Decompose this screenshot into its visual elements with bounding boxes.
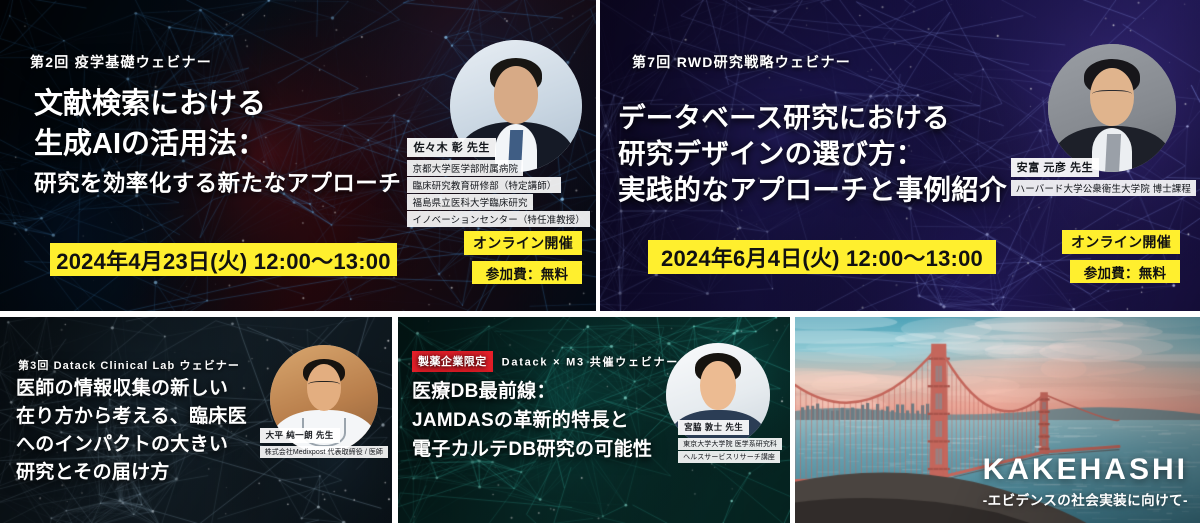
banner-eyebrow: 第2回 疫学基礎ウェビナー — [30, 52, 212, 72]
banner-epidemiology-basics-webinar[interactable]: 第2回 疫学基礎ウェビナー 文献検索における 生成AIの活用法： 研究を効率化す… — [0, 0, 596, 311]
banner-title: 医療DB最前線： JAMDASの革新的特長と 電子カルテDB研究の可能性 — [412, 377, 652, 464]
banner-kakehashi[interactable]: KAKEHASHI -エビデンスの社会実装に向けて- — [795, 317, 1200, 523]
date-chip: 2024年4月23日(火) 12:00〜13:00 — [50, 243, 397, 276]
speaker-affiliation-4: イノベーションセンター（特任准教授） — [407, 211, 590, 227]
speaker-credentials: 安富 元彦 先生 ハーバード大学公衆衛生大学院 博士課程 — [1011, 158, 1196, 197]
speaker-credentials: 大平 純一朗 先生 株式会社Medixpost 代表取締役 / 医師 — [260, 428, 388, 459]
date-chip: 2024年6月4日(火) 12:00〜13:00 — [648, 240, 996, 274]
banner-title: 文献検索における 生成AIの活用法： 研究を効率化する新たなアプローチ — [34, 84, 401, 202]
title-line-3: 実践的なアプローチと事例紹介 — [618, 172, 1007, 208]
speaker-name: 安富 元彦 先生 — [1011, 158, 1100, 177]
eyebrow-label: Datack × M3 共催ウェビナー — [502, 357, 679, 369]
banner-eyebrow: 製薬企業限定Datack × M3 共催ウェビナー — [412, 351, 679, 372]
speaker-name: 大平 純一朗 先生 — [260, 428, 340, 443]
speaker-name: 宮脇 敦士 先生 — [678, 420, 749, 435]
speaker-photo — [1048, 44, 1176, 172]
title-line-1: 医療DB最前線： — [412, 377, 652, 406]
banner-datack-clinical-lab-webinar[interactable]: 第3回 Datack Clinical Lab ウェビナー 医師の情報収集の新し… — [0, 317, 392, 523]
title-subtitle: 研究を効率化する新たなアプローチ — [34, 166, 401, 202]
banner-eyebrow: 第7回 RWD研究戦略ウェビナー — [632, 52, 851, 72]
title-line-4: 研究とその届け方 — [16, 459, 247, 487]
title-line-3: へのインパクトの大きい — [16, 431, 247, 459]
title-line-2: JAMDASの革新的特長と — [412, 406, 652, 435]
title-line-1: 医師の情報収集の新しい — [16, 375, 247, 403]
title-line-2: 在り方から考える、臨床医 — [16, 403, 247, 431]
banner-eyebrow: 第3回 Datack Clinical Lab ウェビナー — [18, 357, 240, 373]
speaker-affiliation-3: 福島県立医科大学臨床研究 — [407, 194, 532, 210]
format-chip: オンライン開催 — [464, 231, 582, 255]
title-line-3: 電子カルテDB研究の可能性 — [412, 435, 652, 464]
banner-rwd-research-strategy-webinar[interactable]: 第7回 RWD研究戦略ウェビナー データベース研究における 研究デザインの選び方… — [600, 0, 1200, 311]
title-line-2: 研究デザインの選び方： — [618, 136, 1007, 172]
speaker-affiliation-1: 京都大学医学部附属病院 — [407, 160, 523, 176]
title-line-1: 文献検索における — [34, 84, 401, 124]
fee-chip: 参加費：無料 — [1070, 260, 1180, 283]
kakehashi-subtitle: -エビデンスの社会実装に向けて- — [983, 489, 1188, 509]
banner-datack-m3-joint-webinar[interactable]: 製薬企業限定Datack × M3 共催ウェビナー 医療DB最前線： JAMDA… — [398, 317, 790, 523]
banner-title: 医師の情報収集の新しい 在り方から考える、臨床医 へのインパクトの大きい 研究と… — [16, 375, 247, 487]
fee-chip: 参加費：無料 — [472, 261, 582, 284]
speaker-name: 佐々木 彰 先生 — [407, 138, 496, 157]
speaker-credentials: 佐々木 彰 先生 京都大学医学部附属病院 臨床研究教育研修部（特定講師） 福島県… — [407, 138, 590, 228]
speaker-affiliation-1: 株式会社Medixpost 代表取締役 / 医師 — [260, 446, 388, 458]
speaker-credentials: 宮脇 敦士 先生 東京大学大学院 医学系研究科 ヘルスサービスリサーチ講座 — [678, 420, 782, 464]
speaker-affiliation-1: 東京大学大学院 医学系研究科 — [678, 438, 782, 450]
pharma-limited-badge: 製薬企業限定 — [412, 351, 493, 372]
speaker-affiliation-2: ヘルスサービスリサーチ講座 — [678, 451, 780, 463]
kakehashi-title: KAKEHASHI — [983, 454, 1188, 486]
title-line-1: データベース研究における — [618, 100, 1007, 136]
banner-title: データベース研究における 研究デザインの選び方： 実践的なアプローチと事例紹介 — [618, 100, 1007, 208]
speaker-affiliation-1: ハーバード大学公衆衛生大学院 博士課程 — [1011, 180, 1196, 196]
title-line-2: 生成AIの活用法： — [34, 124, 401, 164]
format-chip: オンライン開催 — [1062, 230, 1180, 254]
webinar-banner-grid: 第2回 疫学基礎ウェビナー 文献検索における 生成AIの活用法： 研究を効率化す… — [0, 0, 1200, 523]
speaker-affiliation-2: 臨床研究教育研修部（特定講師） — [407, 177, 561, 193]
